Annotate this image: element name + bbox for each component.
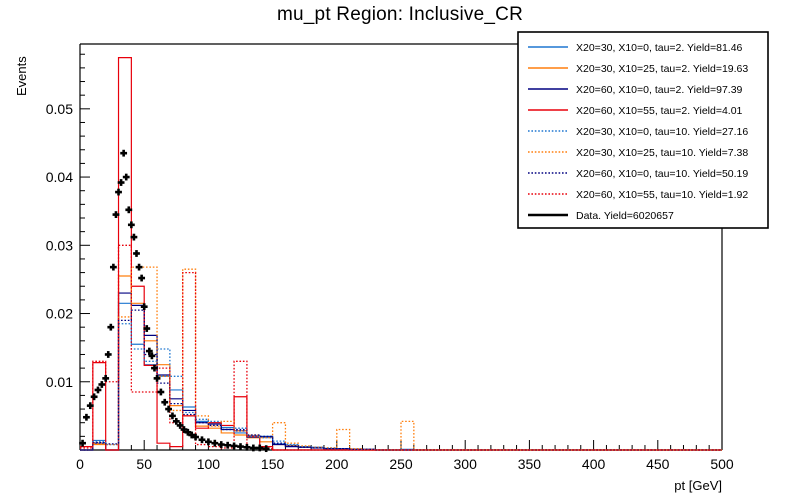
legend-label: X20=60, X10=0, tau=10. Yield=50.19: [576, 168, 748, 180]
chart-canvas: mu_pt Region: Inclusive_CR 0501001502002…: [0, 0, 800, 500]
histogram-solid: [80, 303, 722, 450]
legend-label: X20=60, X10=0, tau=2. Yield=97.39: [576, 84, 743, 96]
x-tick-label: 0: [76, 456, 84, 472]
legend-label: Data. Yield=6020657: [576, 210, 674, 222]
y-tick-label: 0.02: [46, 306, 73, 322]
x-tick-label: 300: [454, 456, 478, 472]
x-tick-label: 450: [646, 456, 670, 472]
chart-svg: 0501001502002503003504004505000.010.020.…: [0, 0, 800, 500]
x-tick-label: 50: [136, 456, 152, 472]
legend-label: X20=60, X10=55, tau=2. Yield=4.01: [576, 105, 743, 117]
legend-label: X20=30, X10=0, tau=2. Yield=81.46: [576, 42, 743, 54]
legend-label: X20=30, X10=25, tau=10. Yield=7.38: [576, 147, 748, 159]
x-tick-label: 350: [518, 456, 542, 472]
histogram-dotted: [80, 324, 722, 450]
legend-label: X20=30, X10=0, tau=10. Yield=27.16: [576, 126, 748, 138]
x-tick-label: 200: [325, 456, 349, 472]
y-axis-title: Events: [14, 56, 29, 96]
y-tick-label: 0.05: [46, 101, 73, 117]
legend-label: X20=30, X10=25, tau=2. Yield=19.63: [576, 63, 748, 75]
plot-area: 0501001502002503003504004505000.010.020.…: [0, 0, 800, 500]
y-tick-label: 0.04: [46, 169, 73, 185]
data-points: [79, 150, 269, 452]
legend-label: X20=60, X10=55, tau=10. Yield=1.92: [576, 189, 748, 201]
x-tick-label: 500: [710, 456, 734, 472]
x-tick-label: 400: [582, 456, 606, 472]
y-tick-label: 0.03: [46, 237, 73, 253]
x-tick-label: 250: [389, 456, 413, 472]
histogram-dotted: [80, 310, 722, 450]
y-tick-label: 0.01: [46, 374, 73, 390]
x-axis-title: pt [GeV]: [674, 478, 722, 493]
x-tick-label: 150: [261, 456, 285, 472]
x-tick-label: 100: [197, 456, 221, 472]
